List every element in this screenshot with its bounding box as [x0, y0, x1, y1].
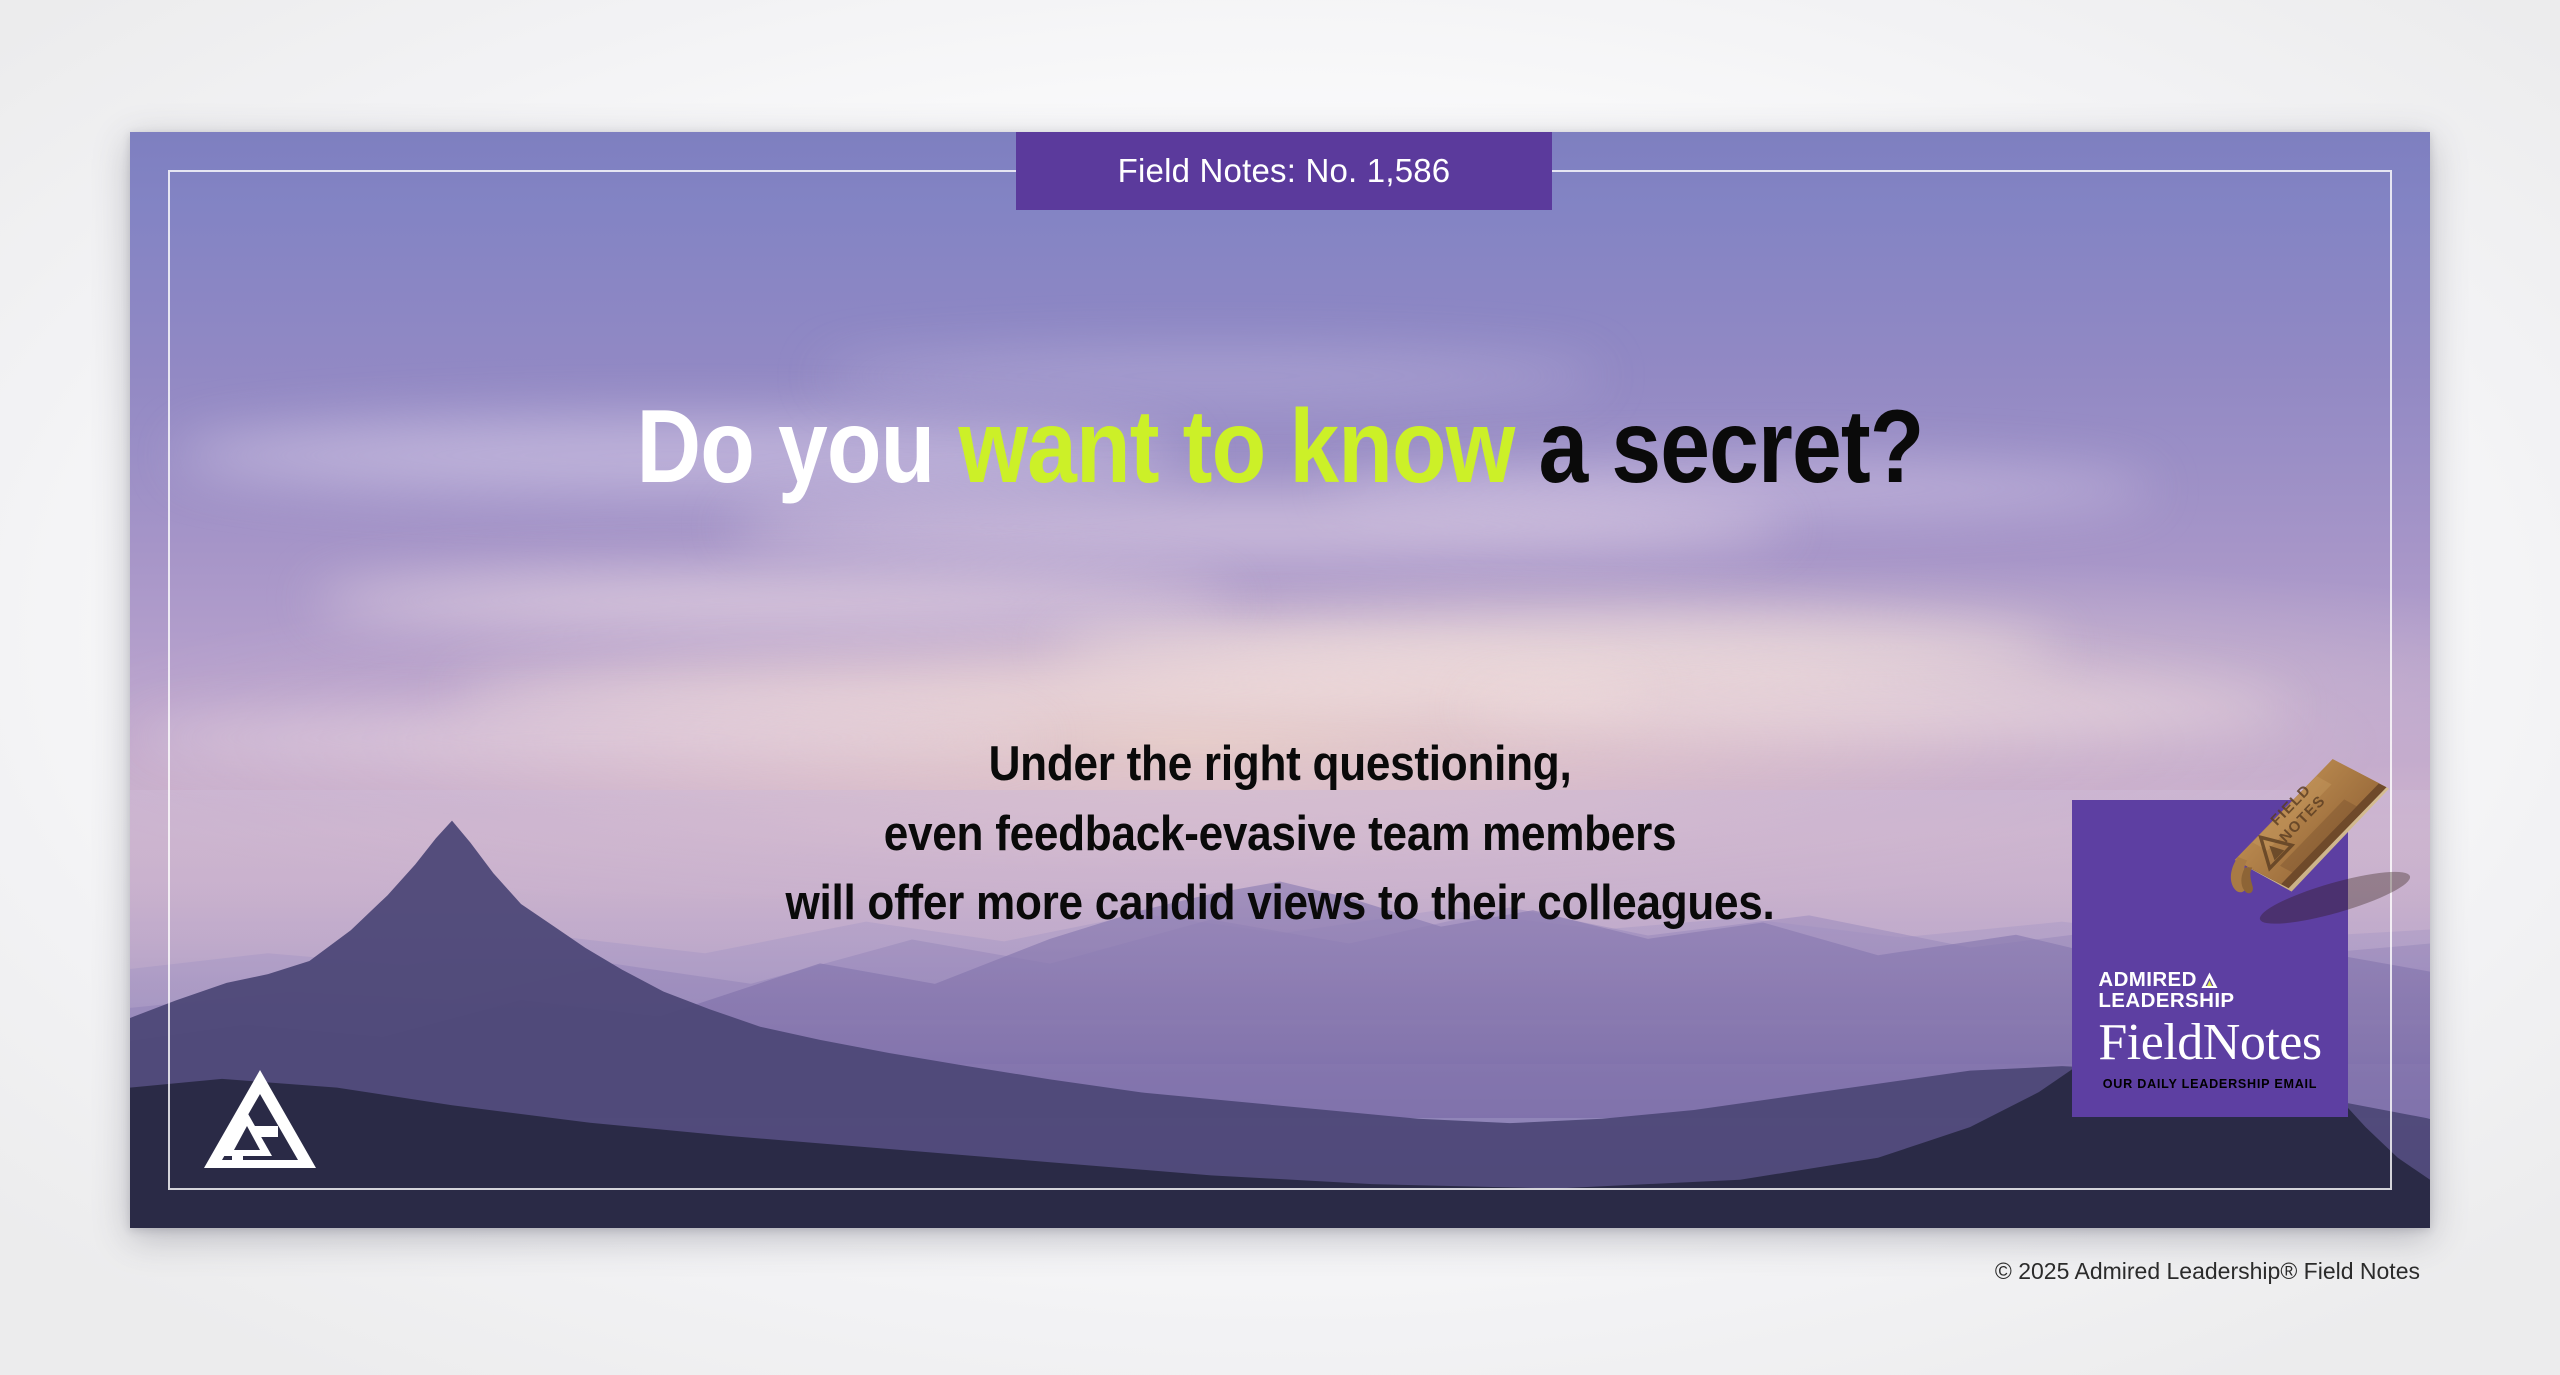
promo-card-content: ADMIRED LEADERSHIP FieldNotes OUR DAILY … — [2072, 970, 2348, 1091]
promo-brand-lockup: ADMIRED LEADERSHIP FieldNotes — [2098, 970, 2321, 1070]
product-wordmark-field: Field — [2098, 1014, 2202, 1071]
triangle-logo-icon — [2201, 972, 2218, 989]
subheadline-line-1: Under the right questioning, — [245, 730, 2315, 800]
field-notes-creative-card: Field Notes: No. 1,586 Do you want to kn… — [130, 132, 2430, 1228]
brand-line-1-row: ADMIRED — [2098, 970, 2321, 991]
product-wordmark-notes: Notes — [2203, 1014, 2322, 1071]
subheadline: Under the right questioning, even feedba… — [245, 730, 2315, 939]
promo-tagline: OUR DAILY LEADERSHIP EMAIL — [2072, 1077, 2348, 1091]
headline: Do you want to know a secret? — [291, 394, 2269, 500]
subheadline-line-3: will offer more candid views to their co… — [245, 869, 2315, 939]
brand-line-1: ADMIRED — [2098, 970, 2196, 991]
subheadline-line-2: even feedback-evasive team members — [245, 800, 2315, 870]
field-notes-number-badge: Field Notes: No. 1,586 — [1016, 132, 1552, 210]
copyright-notice: © 2025 Admired Leadership® Field Notes — [1995, 1258, 2420, 1285]
headline-part-3: a secret? — [1514, 389, 1923, 505]
badge-label: Field Notes: No. 1,586 — [1118, 152, 1451, 190]
product-wordmark: FieldNotes — [2098, 1015, 2321, 1070]
brand-line-2: LEADERSHIP — [2098, 990, 2321, 1013]
headline-part-2-accent: want to know — [958, 389, 1514, 505]
admired-leadership-logo-icon — [202, 1068, 318, 1172]
headline-part-1: Do you — [636, 389, 958, 505]
